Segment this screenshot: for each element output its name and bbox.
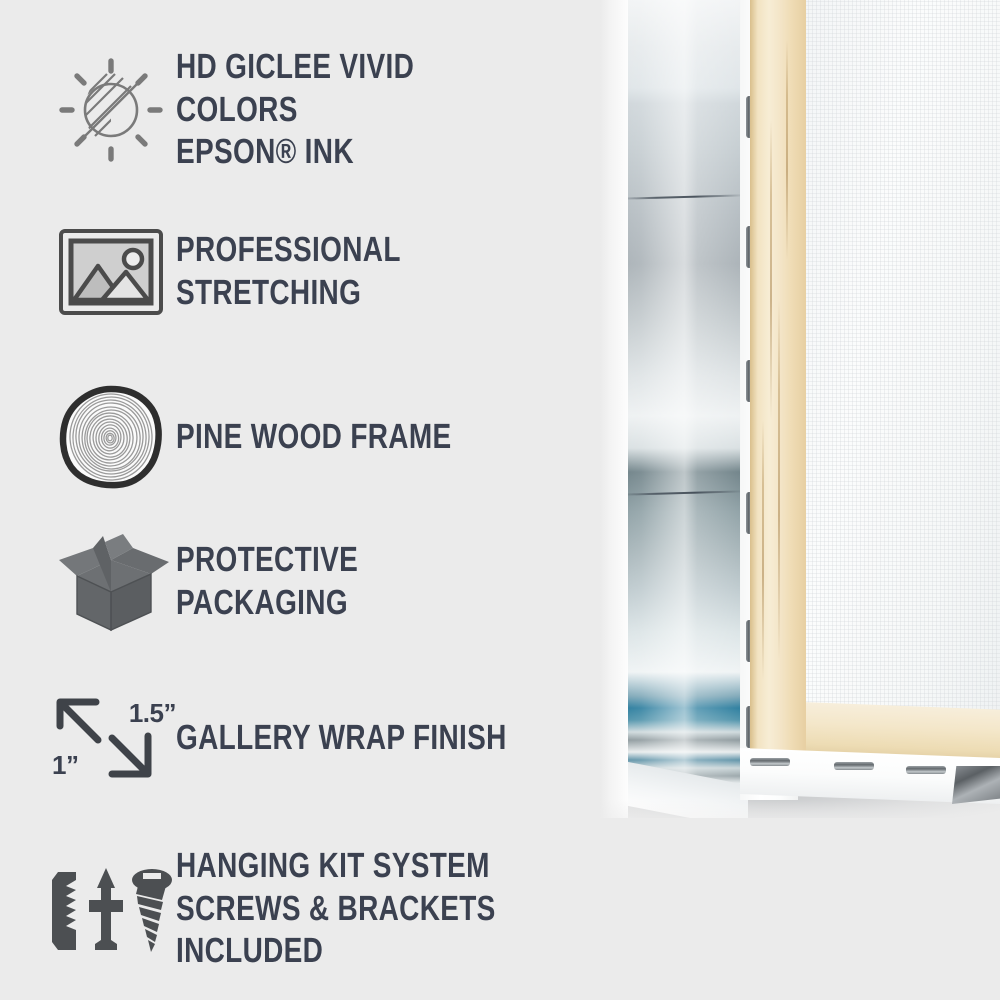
photo-bottom-fade bbox=[600, 800, 1000, 818]
wood-grain-line bbox=[778, 300, 780, 660]
feature-row-hanging-kit: HANGING KIT SYSTEM SCREWS & BRACKETS INC… bbox=[46, 845, 620, 973]
screw-icon bbox=[130, 866, 174, 952]
feature-row-hd-giclee: HD GICLEE VIVID COLORS EPSON® INK bbox=[46, 46, 620, 174]
feature-label-professional-stretching: PROFESSIONAL STRETCHING bbox=[176, 229, 531, 314]
feature-row-pine-wood-frame: PINE WOOD FRAME bbox=[46, 385, 520, 489]
feature-label-hd-giclee: HD GICLEE VIVID COLORS EPSON® INK bbox=[176, 46, 531, 174]
dimension-label-depth: 1.5” bbox=[129, 700, 176, 726]
feature-label-gallery-wrap-finish: GALLERY WRAP FINISH bbox=[176, 717, 507, 760]
sun-hatched-icon bbox=[46, 56, 176, 164]
staple bbox=[834, 762, 874, 770]
sawtooth-hanger-icon bbox=[48, 870, 82, 952]
feature-row-professional-stretching: PROFESSIONAL STRETCHING bbox=[46, 228, 620, 316]
open-box-icon bbox=[46, 530, 176, 634]
feature-label-pine-wood-frame: PINE WOOD FRAME bbox=[176, 416, 451, 459]
picture-frame-icon bbox=[46, 228, 176, 316]
wood-grain-line bbox=[770, 120, 772, 420]
photo-composition bbox=[600, 0, 1000, 818]
wood-rings-icon bbox=[46, 385, 176, 489]
canvas-back-texture bbox=[804, 0, 1000, 770]
hanging-hardware-icon bbox=[46, 866, 176, 952]
hanging-hardware-bracket bbox=[952, 766, 1000, 804]
product-features-infographic: HD GICLEE VIVID COLORS EPSON® INK PROFES… bbox=[0, 0, 1000, 1000]
staple bbox=[750, 758, 790, 766]
dimension-arrows-icon: 1.5” 1” bbox=[46, 692, 176, 784]
feature-list: HD GICLEE VIVID COLORS EPSON® INK PROFES… bbox=[0, 0, 620, 1000]
pine-stretcher-bar-vertical bbox=[750, 0, 806, 760]
wood-grain-line bbox=[762, 420, 764, 680]
feature-row-gallery-wrap-finish: 1.5” 1” GALLERY WRAP FINISH bbox=[46, 692, 589, 784]
nail-icon bbox=[85, 866, 127, 952]
feature-label-protective-packaging: PROTECTIVE PACKAGING bbox=[176, 539, 531, 624]
dimension-label-alt-depth: 1” bbox=[52, 752, 78, 778]
feature-row-protective-packaging: PROTECTIVE PACKAGING bbox=[46, 530, 620, 634]
canvas-corner-closeup-photo bbox=[600, 0, 1000, 1000]
wood-grain-line bbox=[786, 40, 788, 260]
feature-label-hanging-kit: HANGING KIT SYSTEM SCREWS & BRACKETS INC… bbox=[176, 845, 531, 973]
printed-canvas-edge bbox=[618, 0, 746, 800]
staple bbox=[906, 766, 946, 774]
